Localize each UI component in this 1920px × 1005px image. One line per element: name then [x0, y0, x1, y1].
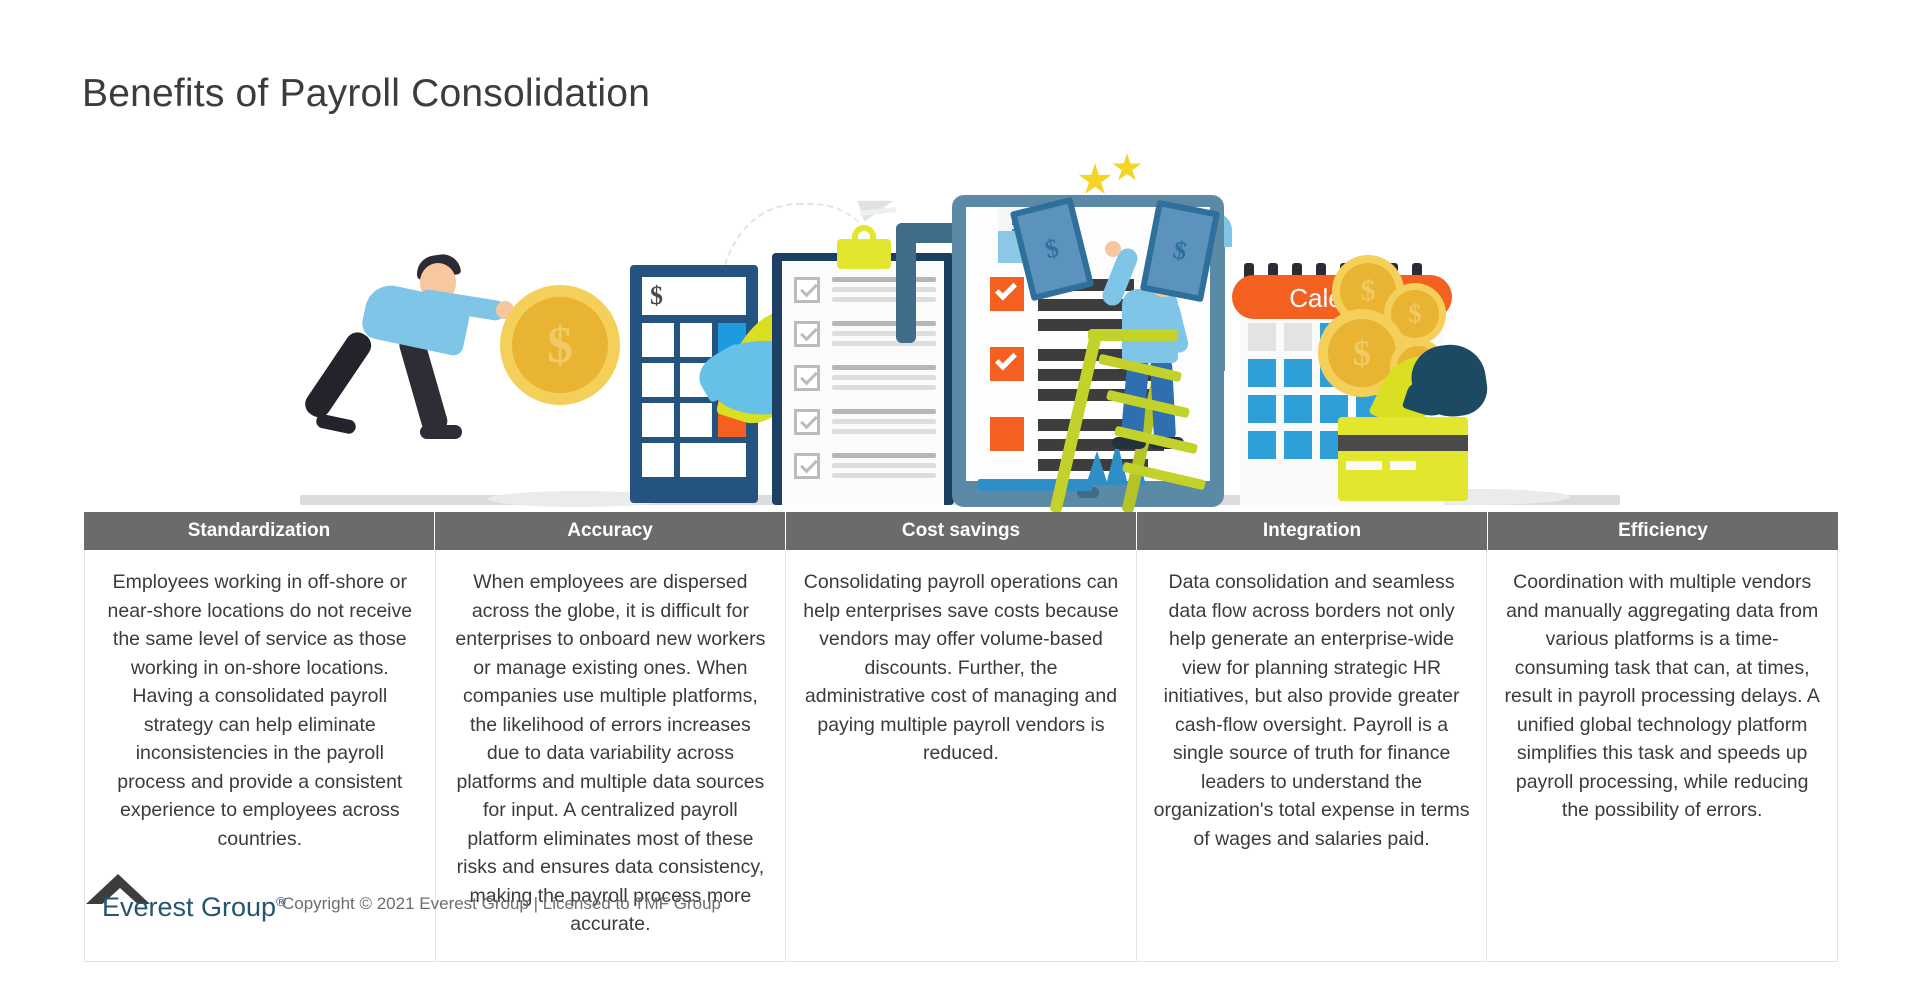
- clipboard-checkbox: [794, 277, 820, 303]
- clipboard-line-light: [832, 473, 936, 478]
- check-icon: [800, 280, 818, 298]
- worker-left-foot-back: [315, 413, 357, 435]
- worker-left-foot-front: [420, 425, 462, 439]
- calendar-day-cell: [1284, 431, 1312, 459]
- everest-group-logo: Everest Group®: [84, 872, 274, 918]
- clipboard-checkbox: [794, 321, 820, 347]
- calendar-day-cell: [1248, 323, 1276, 351]
- chart-peak-icon: [1086, 451, 1108, 485]
- calendar-day-cell: [1284, 359, 1312, 387]
- slide-canvas: Benefits of Payroll Consolidation $ $: [0, 0, 1920, 1005]
- clipboard-line-light: [832, 341, 936, 346]
- ladder-top-rung: [1088, 329, 1178, 341]
- check-icon: [800, 412, 818, 430]
- calculator-key: [680, 443, 746, 477]
- table-header-standardization: Standardization: [84, 512, 435, 550]
- calculator-key: [642, 443, 674, 477]
- calendar-day-cell: [1284, 323, 1312, 351]
- copyright-text: Copyright © 2021 Everest Group | License…: [282, 894, 721, 914]
- clipboard-checkbox: [794, 409, 820, 435]
- check-icon: [800, 324, 818, 342]
- tablet-checkbox-empty: [990, 417, 1024, 451]
- clipboard-line-light: [832, 385, 936, 390]
- check-icon: [995, 279, 1017, 301]
- table-header-accuracy: Accuracy: [435, 512, 786, 550]
- worker-left-leg-back: [301, 328, 376, 422]
- calendar-day-cell: [1248, 431, 1276, 459]
- clipboard-line: [832, 321, 936, 326]
- tablet-progress-bar: [978, 479, 1092, 491]
- credit-card-number-block: [1346, 461, 1382, 470]
- clipboard-line-light: [832, 463, 936, 468]
- calendar-day-cell: [1248, 395, 1276, 423]
- tablet-checkbox-checked: [990, 347, 1024, 381]
- check-icon: [800, 456, 818, 474]
- banknote-dollar-sign: $: [1171, 235, 1189, 267]
- clipboard-line: [832, 453, 936, 458]
- credit-card-magnetic-strip: [1338, 435, 1468, 451]
- paper-plane-icon: [857, 190, 896, 221]
- worker-ladder-hand: [1105, 241, 1121, 257]
- clipboard-line-light: [832, 287, 936, 292]
- table-header-cost-savings: Cost savings: [786, 512, 1137, 550]
- large-coin-dollar-sign: $: [512, 297, 608, 393]
- clipboard-clip: [837, 239, 891, 269]
- clipboard-line: [832, 365, 936, 370]
- calculator-key: [642, 403, 674, 437]
- clipboard-line-light: [832, 429, 936, 434]
- star-icon: [1078, 163, 1112, 197]
- worker-left-torso: [359, 281, 472, 357]
- clipboard-line-light: [832, 297, 936, 302]
- footer: Everest Group® Copyright © 2021 Everest …: [84, 872, 1784, 932]
- clipboard-line: [832, 409, 936, 414]
- credit-card-number-block: [1390, 461, 1416, 470]
- calculator-dollar-sign: $: [650, 281, 680, 311]
- star-icon: [1112, 153, 1142, 183]
- calculator-key: [680, 403, 712, 437]
- clipboard-line-light: [832, 375, 936, 380]
- clipboard-line-light: [832, 331, 936, 336]
- credit-card-icon: [1338, 417, 1468, 501]
- table-header-efficiency: Efficiency: [1488, 512, 1838, 550]
- calendar-day-cell: [1248, 359, 1276, 387]
- check-icon: [995, 349, 1017, 371]
- clipboard-checkbox: [794, 453, 820, 479]
- calculator-key: [642, 323, 674, 357]
- check-icon: [800, 368, 818, 386]
- calculator-key: [680, 323, 712, 357]
- hero-illustration: $ $: [300, 95, 1620, 515]
- calculator-key: [642, 363, 674, 397]
- table-header-row: Standardization Accuracy Cost savings In…: [84, 512, 1838, 550]
- tablet-checkbox-checked: [990, 277, 1024, 311]
- logo-wordmark: Everest Group®: [102, 892, 286, 923]
- banknote-dollar-sign: $: [1042, 233, 1062, 265]
- calendar-day-cell: [1284, 395, 1312, 423]
- clipboard-checkbox: [794, 365, 820, 391]
- clipboard-line-light: [832, 419, 936, 424]
- clipboard-line: [832, 277, 936, 282]
- logo-name: Everest Group: [102, 892, 276, 922]
- table-header-integration: Integration: [1137, 512, 1488, 550]
